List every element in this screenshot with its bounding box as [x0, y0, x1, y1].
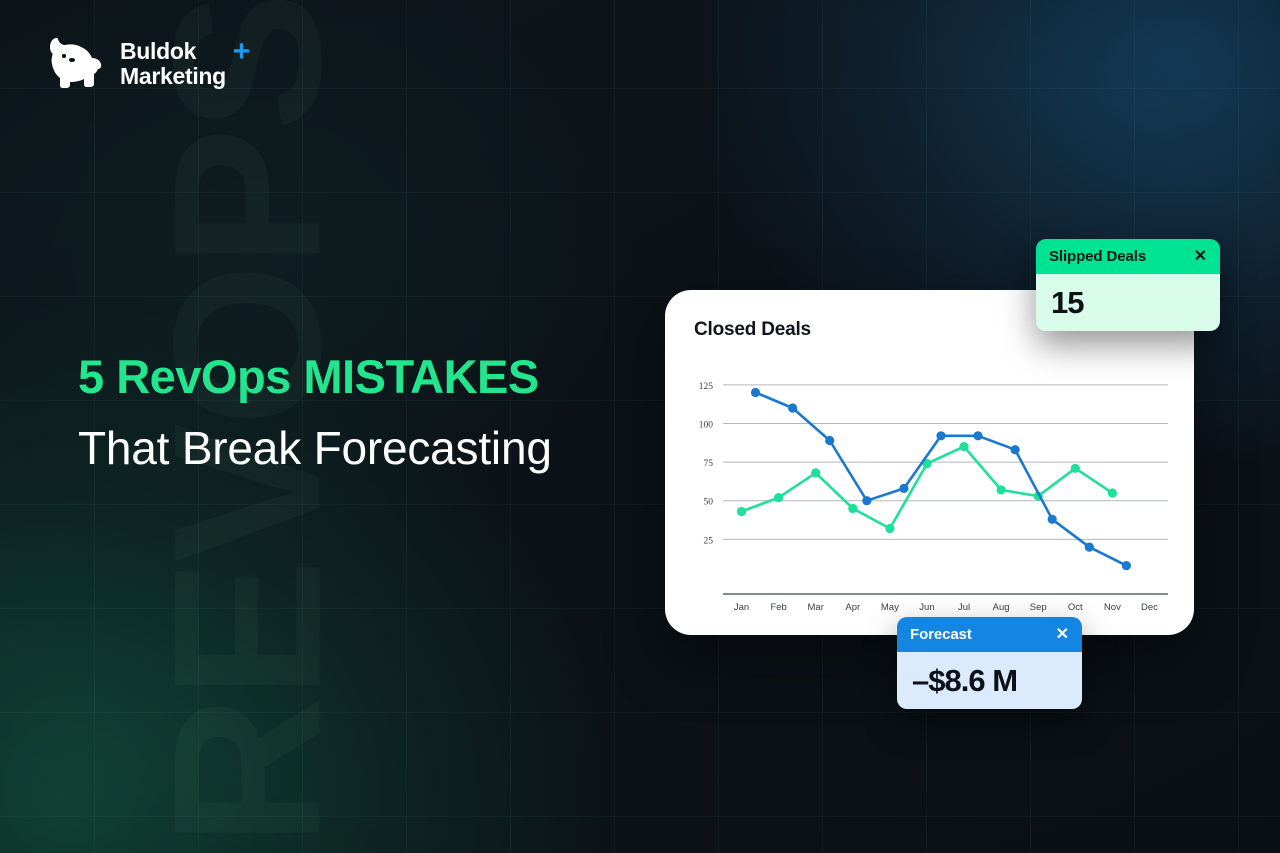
brand-logo[interactable]: Buldok Marketing +	[44, 36, 226, 92]
poster-canvas: REVOPS Buldok Marketing + 5 RevOps MISTA…	[0, 0, 1280, 853]
badge-forecast-value: –$8.6 M	[912, 663, 1017, 699]
pipeline-point	[751, 388, 760, 397]
pipeline-point	[825, 436, 834, 445]
pipeline-point	[973, 431, 982, 440]
actual-point	[774, 493, 783, 502]
x-axis-tick-label: Mar	[808, 602, 824, 613]
pipeline-point	[936, 431, 945, 440]
badge-slipped-deals-value: 15	[1051, 285, 1083, 321]
actual-point	[737, 507, 746, 516]
x-axis-tick-label: Aug	[993, 602, 1010, 613]
badge-slipped-deals-header: Slipped Deals ✕	[1036, 239, 1220, 274]
headline-line-2: That Break Forecasting	[78, 419, 552, 477]
actual-point	[997, 485, 1006, 494]
badge-slipped-deals-body: 15	[1036, 274, 1220, 331]
close-icon[interactable]: ✕	[1194, 249, 1207, 265]
x-axis-tick-label: Jan	[734, 602, 749, 613]
x-axis-tick-label: Nov	[1104, 602, 1121, 613]
pipeline-point	[862, 496, 871, 505]
bulldog-icon	[44, 36, 106, 92]
x-axis-tick-label: Jun	[919, 602, 934, 613]
pipeline-point	[899, 484, 908, 493]
actual-point	[1108, 488, 1117, 497]
x-axis-tick-label: Apr	[845, 602, 860, 613]
pipeline-point	[1011, 445, 1020, 454]
x-axis-tick-label: Feb	[770, 602, 786, 613]
actual-point	[959, 442, 968, 451]
badge-slipped-deals-label: Slipped Deals	[1049, 248, 1146, 265]
badge-forecast-body: –$8.6 M	[897, 652, 1082, 709]
brand-line-1: Buldok	[120, 39, 226, 64]
headline: 5 RevOps MISTAKES That Break Forecasting	[78, 348, 552, 477]
y-axis-tick-label: 100	[699, 420, 714, 430]
brand-line-2: Marketing	[120, 64, 226, 89]
badge-forecast-label: Forecast	[910, 626, 972, 643]
badge-forecast[interactable]: Forecast ✕ –$8.6 M	[897, 617, 1082, 709]
y-axis-tick-label: 125	[699, 382, 714, 392]
y-axis-tick-label: 75	[704, 459, 714, 469]
actual-point	[1071, 464, 1080, 473]
brand-wordmark: Buldok Marketing +	[120, 39, 226, 89]
plus-icon: +	[233, 41, 250, 63]
pipeline-point	[788, 403, 797, 412]
y-axis-tick-label: 25	[704, 536, 714, 546]
x-axis-tick-label: Dec	[1141, 602, 1158, 613]
x-axis-tick-label: May	[881, 602, 899, 613]
chart-card: Closed Deals 255075100125JanFebMarAprMay…	[665, 290, 1194, 635]
x-axis-tick-label: Jul	[958, 602, 970, 613]
actual-line	[742, 447, 1113, 529]
actual-point	[848, 504, 857, 513]
actual-point	[811, 468, 820, 477]
pipeline-point	[1122, 561, 1131, 570]
line-chart: 255075100125JanFebMarAprMayJunJulAugSepO…	[665, 290, 1194, 635]
badge-slipped-deals[interactable]: Slipped Deals ✕ 15	[1036, 239, 1220, 331]
actual-point	[885, 524, 894, 533]
pipeline-point	[1085, 543, 1094, 552]
close-icon[interactable]: ✕	[1056, 627, 1069, 643]
x-axis-tick-label: Sep	[1030, 602, 1047, 613]
headline-line-1: 5 RevOps MISTAKES	[78, 348, 552, 406]
x-axis-tick-label: Oct	[1068, 602, 1083, 613]
badge-forecast-header: Forecast ✕	[897, 617, 1082, 652]
y-axis-tick-label: 50	[704, 498, 714, 508]
pipeline-point	[1048, 515, 1057, 524]
